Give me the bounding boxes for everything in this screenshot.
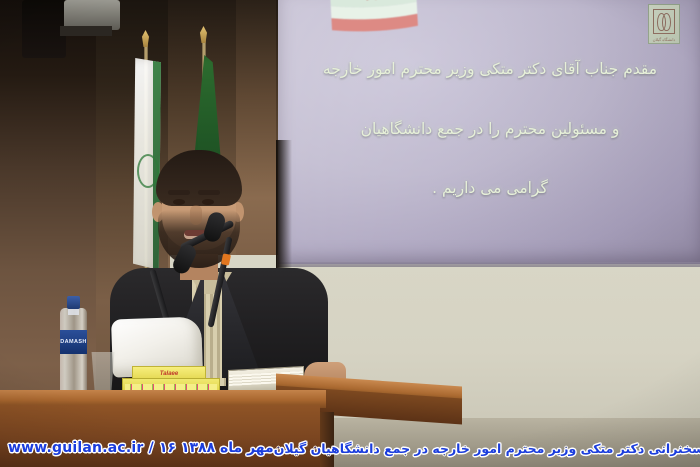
eye-right: [202, 199, 214, 205]
floor-area: [330, 418, 700, 467]
iran-flag-icon: [330, 0, 418, 34]
lecture-photograph: دانشگاه گیلان مقدم جناب آقای دکتر متکی و…: [0, 0, 700, 467]
tissue-brand-label: Talaee: [160, 371, 178, 377]
fixture-bracket: [60, 26, 112, 36]
bottle-label: DAMASH: [60, 330, 87, 354]
logo-caption: دانشگاه گیلان: [649, 37, 679, 42]
water-bottle: DAMASH: [60, 296, 87, 398]
slide-line-1: مقدم جناب آقای دکتر متکی وزیر محترم امور…: [288, 62, 692, 78]
nose: [190, 205, 202, 225]
hair: [156, 150, 242, 206]
guilan-university-logo: دانشگاه گیلان: [648, 4, 680, 44]
eye-left: [173, 199, 185, 205]
table-front-panel: [0, 405, 320, 467]
slide-line-3: گرامی می داریم .: [288, 181, 692, 197]
slide-line-2: و مسئولین محترم را در جمع دانشگاهیان: [288, 122, 692, 138]
screen-bottom-edge: [278, 262, 700, 267]
bottle-cap: [67, 296, 80, 309]
eyebrow-left: [168, 190, 190, 195]
bottle-brand-label: DAMASH: [60, 339, 87, 345]
slide-text-block: مقدم جناب آقای دکتر متکی وزیر محترم امور…: [288, 62, 692, 197]
eyebrow-right: [198, 190, 220, 195]
logo-emblem: [653, 9, 675, 34]
